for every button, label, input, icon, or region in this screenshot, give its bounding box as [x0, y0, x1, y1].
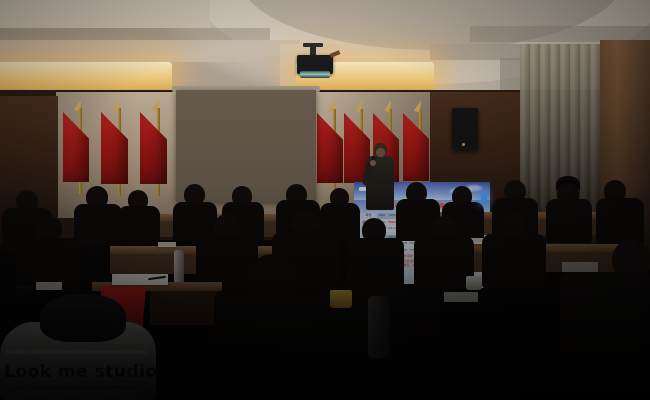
attendee-torso: [546, 199, 592, 243]
attendee-head: [446, 316, 486, 346]
paper: [158, 242, 176, 247]
ceiling-slab: [0, 40, 300, 62]
thermos-flask: [368, 296, 390, 358]
thermos-flask: [174, 250, 184, 284]
attendee-torso: [560, 272, 650, 362]
paper-cup: [330, 290, 352, 308]
projector-lens-icon: [300, 71, 330, 78]
paper: [562, 262, 598, 272]
attendee-torso: [160, 340, 280, 400]
ceiling-slab: [0, 0, 210, 28]
presenter-face: [376, 148, 385, 157]
hoodie-garment-text: Look me studio: [4, 362, 144, 382]
attendee-torso: [196, 236, 258, 288]
wall-speaker-icon: [452, 108, 478, 150]
hoodie-fold: [14, 386, 138, 389]
hoodie-hood: [40, 294, 126, 342]
paper: [36, 282, 62, 290]
hoodie-fold: [6, 350, 146, 354]
attendee-torso: [118, 206, 160, 244]
presenter-hand: [370, 160, 376, 166]
attendee-torso: [596, 198, 644, 244]
speaker-led-icon: [462, 143, 465, 146]
paper: [444, 292, 478, 302]
attendee-torso: [482, 234, 546, 288]
phone-screen-icon: [481, 193, 487, 203]
attendee-torso: [414, 236, 474, 288]
foreground-attendee-hoodie: Look me studio: [0, 296, 166, 400]
paper-cup: [466, 276, 482, 290]
ceiling-shadow-band: [0, 28, 270, 40]
conference-room-photo: 近20年来全国生产安全事故统计 年份 1998 1999 2000 2001 2…: [0, 0, 650, 400]
attendee-torso: [74, 204, 122, 246]
